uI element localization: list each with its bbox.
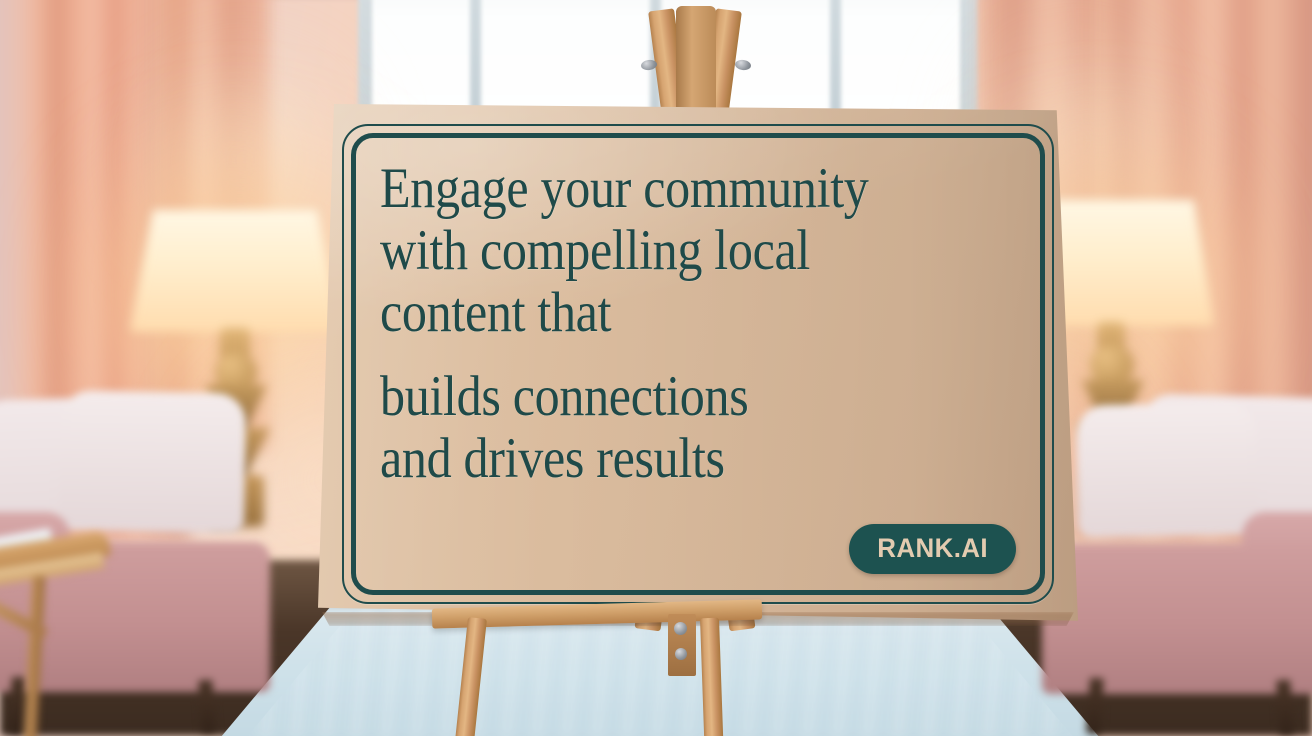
logo-badge[interactable]: RANK.AI <box>849 524 1016 574</box>
lamp-ball-finial <box>1090 344 1134 386</box>
easel-bolt <box>674 622 687 635</box>
sign-board[interactable]: Engage your community with compelling lo… <box>318 104 1078 626</box>
headline-line-1: Engage your community <box>380 158 954 220</box>
chair-cushion <box>59 390 246 533</box>
headline-line-5: and drives results <box>380 428 954 490</box>
lampshade <box>130 210 340 332</box>
window-mullion <box>650 0 661 125</box>
headline-line-3: content that <box>380 282 954 344</box>
chair-body <box>1042 544 1312 694</box>
logo-text: RANK.AI <box>877 535 988 562</box>
easel-bolt <box>675 648 687 660</box>
window-mullion <box>830 0 841 125</box>
sign-headline: Engage your community with compelling lo… <box>380 158 1032 568</box>
table-leg <box>24 576 46 736</box>
side-table <box>0 540 120 736</box>
chair-cushion <box>1076 402 1258 537</box>
headline-line-2: with compelling local <box>380 220 954 282</box>
headline-line-4: builds connections <box>380 366 954 428</box>
scene-photo: Engage your community with compelling lo… <box>0 0 1312 736</box>
